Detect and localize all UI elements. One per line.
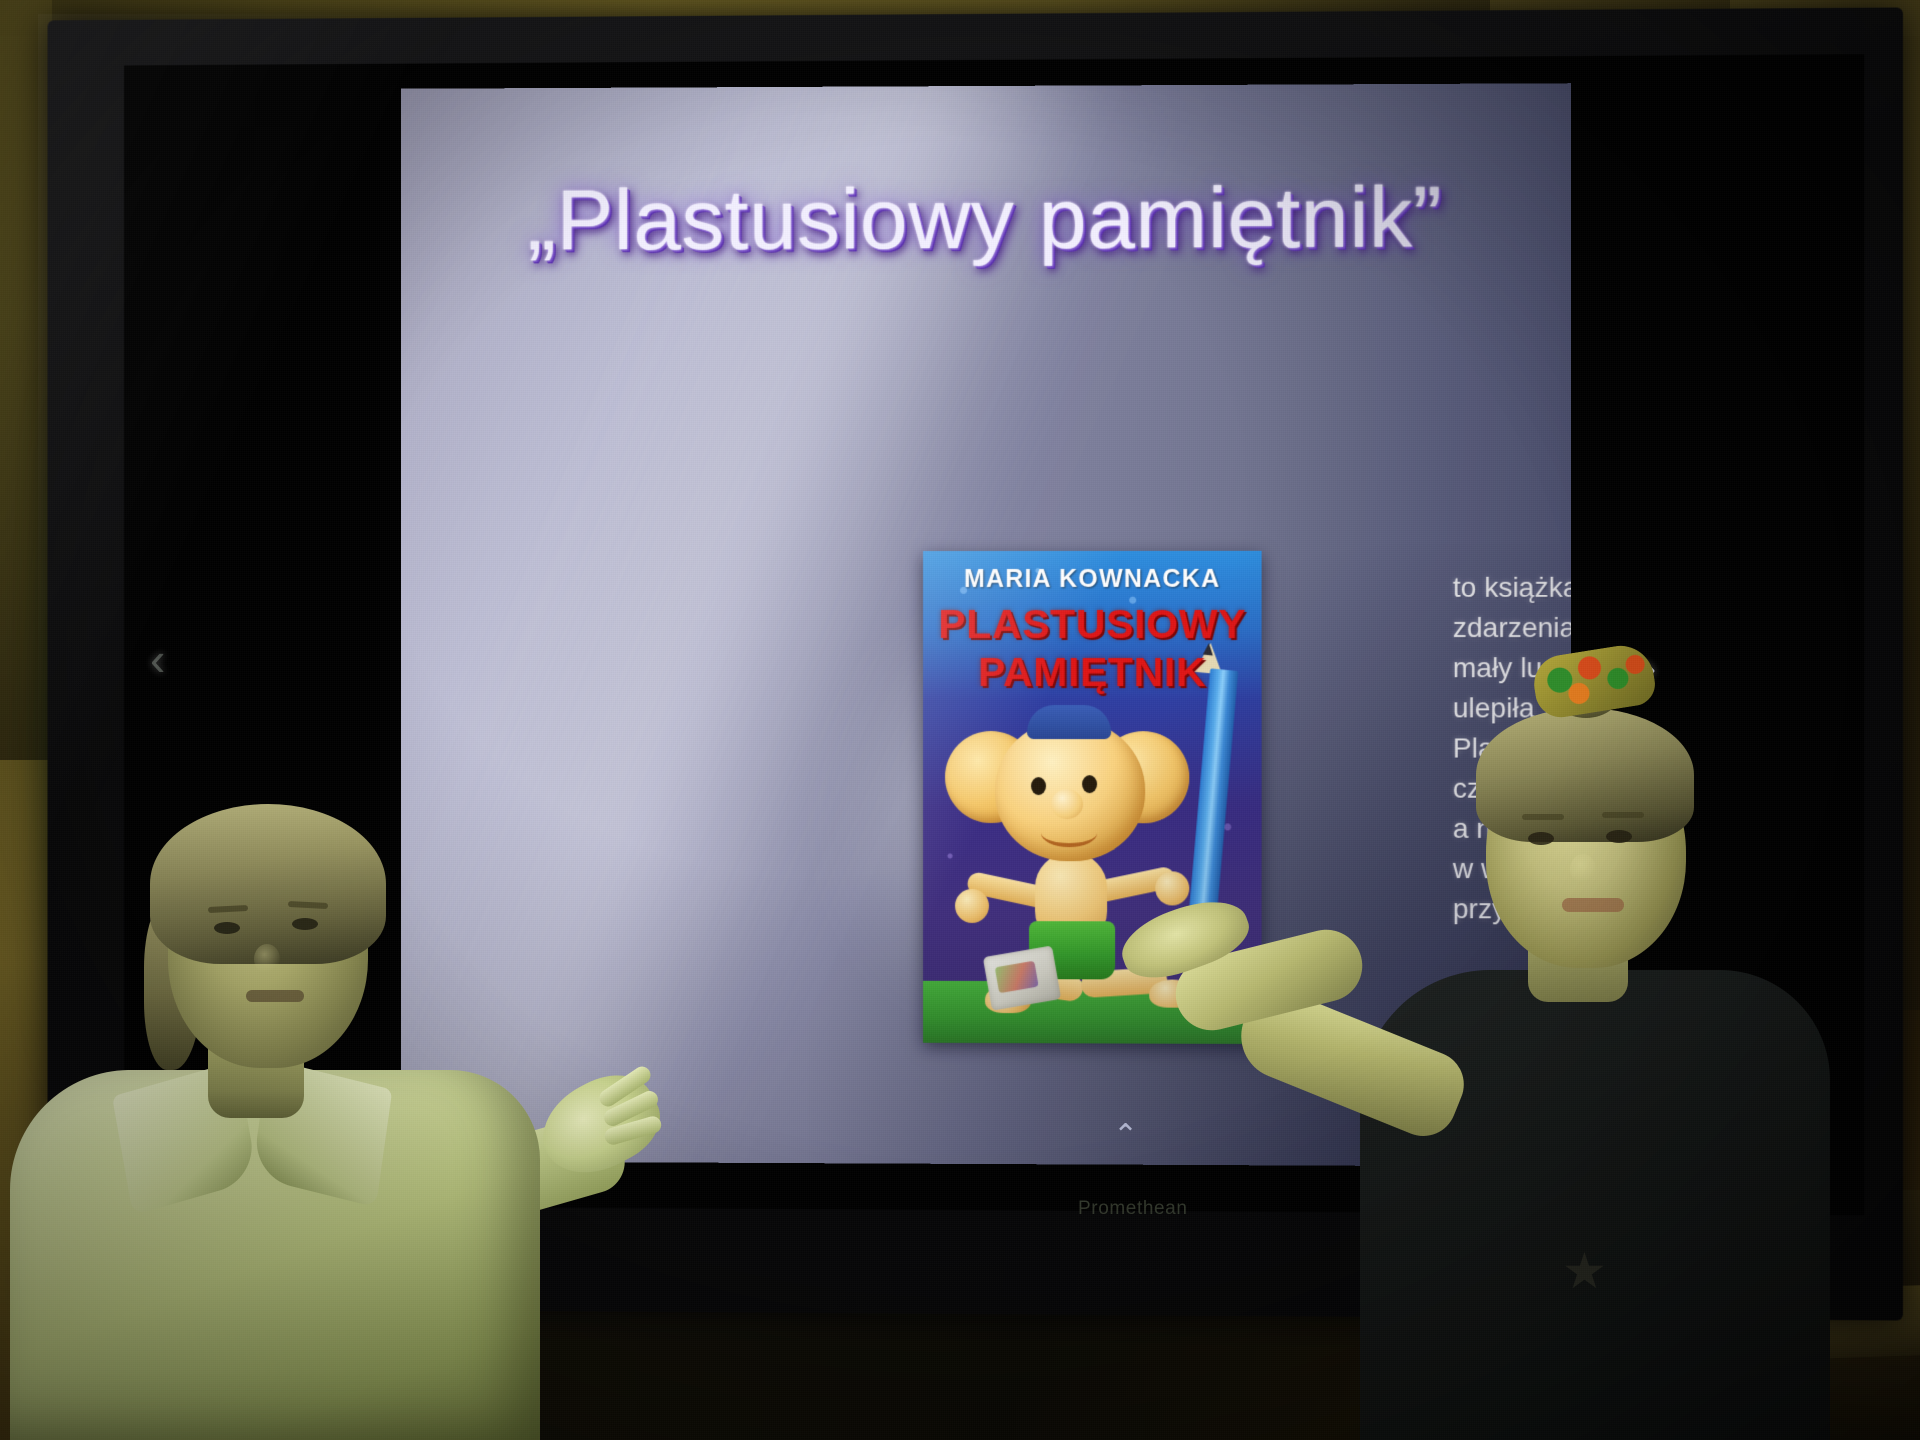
chevron-left-icon[interactable]: ‹	[150, 632, 165, 686]
student-left-mouth	[246, 990, 304, 1002]
student-left-eye-right	[292, 918, 318, 930]
classroom-photograph: „Plastusiowy pamiętnik”	[0, 0, 1920, 1440]
student-right-eye-right	[1606, 830, 1632, 843]
star-pendant-icon: ★	[1562, 1246, 1616, 1300]
student-right-hair-bow	[1530, 641, 1658, 721]
student-left-nose	[254, 944, 280, 974]
plastus-nose	[1051, 789, 1083, 819]
student-right-hair	[1476, 708, 1694, 842]
plastus-eye-left	[1031, 777, 1046, 795]
plastus-hand-left	[955, 889, 989, 923]
student-right-mouth	[1562, 898, 1624, 912]
student-right-shirt	[1360, 970, 1830, 1440]
slide-title: „Plastusiowy pamiętnik”	[401, 168, 1571, 271]
student-left-eye-left	[214, 922, 240, 934]
student-right: ★	[1130, 640, 1920, 1440]
student-left	[0, 760, 620, 1440]
student-left-hair	[150, 804, 386, 964]
student-right-nose	[1570, 854, 1596, 884]
plastus-pencil-case	[983, 946, 1061, 1011]
student-right-brow-right	[1602, 812, 1644, 818]
plastus-mouth	[1041, 819, 1097, 847]
student-right-brow-left	[1522, 814, 1564, 820]
book-cover-author: MARIA KOWNACKA	[923, 565, 1262, 594]
student-right-eye-left	[1528, 832, 1554, 845]
plastus-cap	[1027, 705, 1111, 739]
plastus-eye-right	[1082, 775, 1097, 793]
